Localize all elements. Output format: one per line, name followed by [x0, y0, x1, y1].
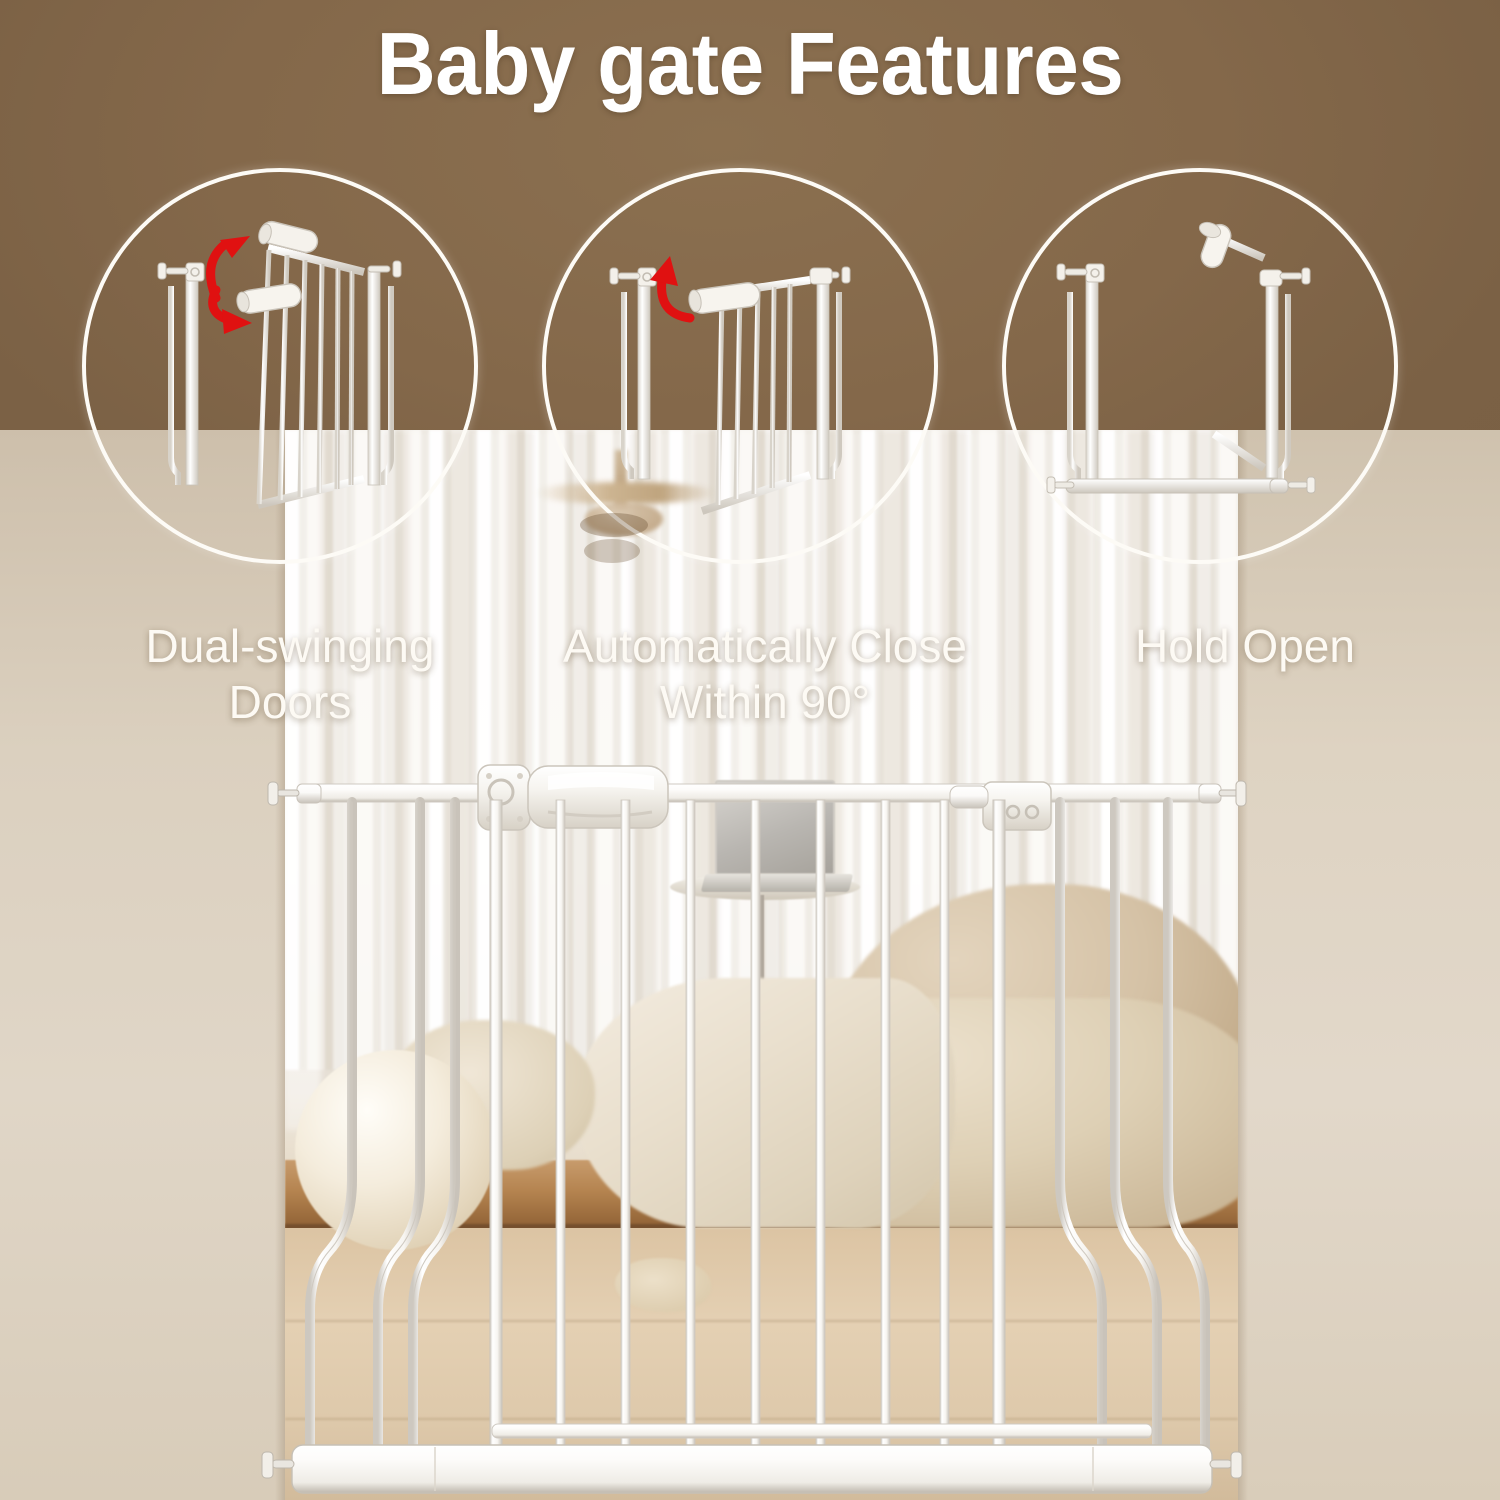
feature-automatically-close[interactable] — [542, 168, 938, 564]
gate-left-extension-bars — [310, 802, 455, 1446]
gate-dual-swing-icon — [82, 168, 478, 564]
pressure-mount-bolt-bottom-left — [262, 1452, 294, 1478]
gate-top-rail — [310, 784, 1210, 802]
feature-captions: Dual-swinging Doors Automatically Close … — [0, 618, 1500, 748]
infographic-stage: Baby gate Features — [0, 0, 1500, 1500]
double-curved-arrow — [211, 236, 252, 334]
page-title: Baby gate Features — [53, 12, 1448, 116]
handle-lower — [236, 282, 303, 314]
pressure-mount-bolt-top-right — [1199, 781, 1246, 806]
caption-automatically-close: Automatically Close Within 90° — [495, 618, 1035, 730]
feature-hold-open[interactable] — [1002, 168, 1398, 564]
handle — [688, 281, 762, 315]
gate-handle-latch — [478, 765, 668, 830]
gate-hold-open-icon — [1002, 168, 1398, 564]
gate-right-extension-bars — [1060, 802, 1205, 1446]
feature-dual-swinging-doors[interactable] — [82, 168, 478, 564]
pressure-mount-bolt-bottom-right — [1210, 1452, 1242, 1478]
gate-frame-verticals — [490, 800, 1005, 1446]
pressure-mount-bolt-top-left — [268, 782, 321, 805]
caption-hold-open: Hold Open — [1035, 618, 1455, 674]
gate-bottom-threshold-bar — [292, 1445, 1212, 1493]
gate-auto-close-icon — [542, 168, 938, 564]
gate-door-bars — [556, 800, 949, 1446]
single-curved-arrow-up — [650, 256, 690, 318]
caption-dual-swinging-doors: Dual-swinging Doors — [60, 618, 520, 730]
gate-door-lower-rail — [492, 1424, 1152, 1438]
